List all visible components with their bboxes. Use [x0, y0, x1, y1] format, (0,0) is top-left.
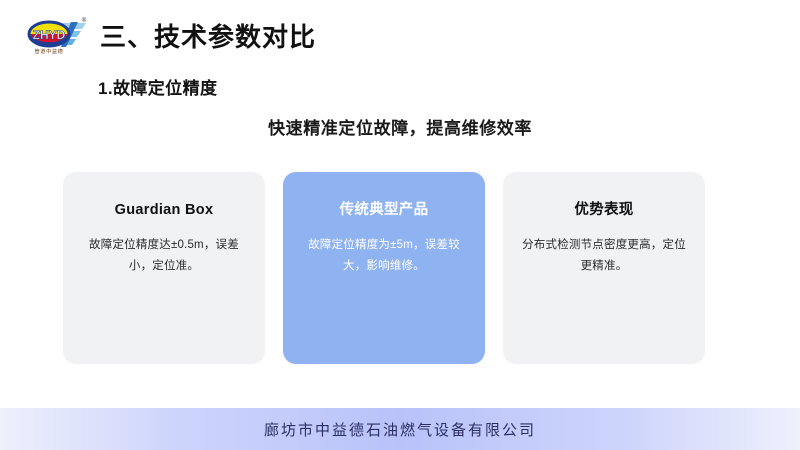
- card-description: 故障定位精度为±5m，误差较大，影响维修。: [299, 235, 469, 275]
- slide-footer: 廊坊市中益德石油燃气设备有限公司: [0, 408, 800, 450]
- card-advantage[interactable]: 优势表现 分布式检测节点密度更高，定位更精准。: [503, 172, 705, 364]
- footer-company-name: 廊坊市中益德石油燃气设备有限公司: [264, 419, 536, 440]
- logo-subtext: 管道中益德: [35, 47, 64, 55]
- page-title: 三、技术参数对比: [100, 24, 316, 50]
- card-title: Guardian Box: [79, 202, 249, 219]
- headline-text: 快速精准定位故障，提高维修效率: [0, 114, 800, 139]
- logo-graphic: ZHYD 管道中益德 ®: [26, 16, 90, 58]
- card-guardian-box[interactable]: Guardian Box 故障定位精度达±0.5m，误差小，定位准。: [63, 172, 265, 364]
- card-description: 故障定位精度达±0.5m，误差小，定位准。: [79, 235, 249, 275]
- slide-header: ZHYD 管道中益德 ® 三、技术参数对比: [26, 14, 316, 60]
- card-traditional-product[interactable]: 传统典型产品 故障定位精度为±5m，误差较大，影响维修。: [283, 172, 485, 364]
- card-title: 传统典型产品: [299, 202, 469, 219]
- card-title: 优势表现: [519, 202, 689, 219]
- section-subtitle: 1.故障定位精度: [98, 74, 217, 99]
- zhyd-company-logo: ZHYD 管道中益德 ®: [26, 16, 90, 58]
- registered-trademark-icon: ®: [82, 17, 87, 24]
- comparison-card-group: Guardian Box 故障定位精度达±0.5m，误差小，定位准。 传统典型产…: [63, 172, 705, 364]
- logo-wordmark: ZHYD: [33, 28, 66, 42]
- logo-emblem-icon: ZHYD: [29, 22, 69, 46]
- card-description: 分布式检测节点密度更高，定位更精准。: [519, 235, 689, 275]
